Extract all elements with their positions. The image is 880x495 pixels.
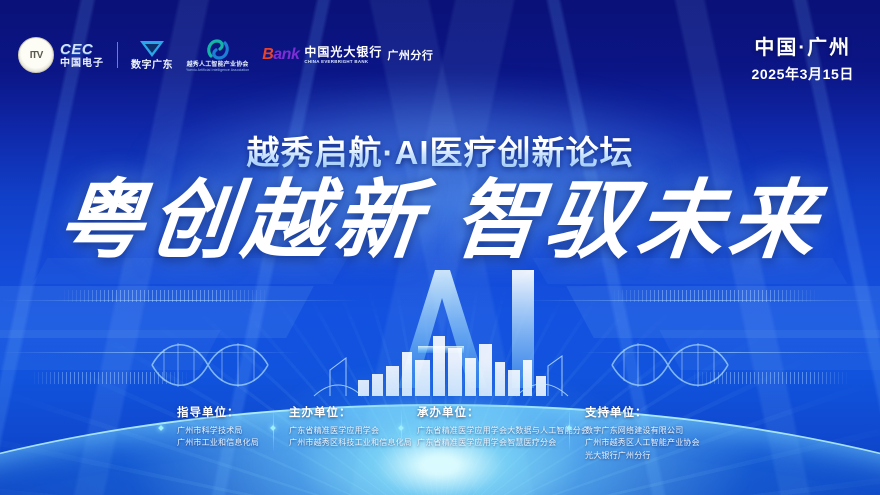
event-location-date: 中国·广州 2025年3月15日 xyxy=(751,38,854,81)
organizer-credits: 指导单位： 广州市科学技术局 广州市工业和信息化局 主办单位： 广东省精准医学应… xyxy=(0,404,880,466)
credit-block-organizer: 承办单位： 广东省精准医学应用学会大数据与人工智能分会 广东省精准医学应用学会智… xyxy=(401,404,569,450)
cec-logo: ITV CEC 中国电子 xyxy=(18,37,104,73)
diamond-node-icon xyxy=(158,425,164,431)
credit-org: 广州市越秀区人工智能产业协会 xyxy=(585,437,705,448)
credit-block-supporter: 支持单位： 数字广东网络建设有限公司 广州市越秀区人工智能产业协会 光大银行广州… xyxy=(569,404,719,462)
cec-seal-icon: ITV xyxy=(18,37,54,73)
bank-mark-ank: ank xyxy=(273,46,299,64)
forum-main-title: 粤创越新 智驭未来 xyxy=(0,176,880,266)
digital-guangdong-label: 数字广东 xyxy=(131,61,173,71)
credit-org: 广州市越秀区科技工业和信息化局 xyxy=(289,437,387,448)
event-backdrop-poster: ITV CEC 中国电子 数字广东 越秀人工智能产业协会 Yuexiu Arti… xyxy=(0,0,880,495)
sponsor-logo-bar: ITV CEC 中国电子 数字广东 越秀人工智能产业协会 Yuexiu Arti… xyxy=(18,33,433,77)
swirl-knot-icon xyxy=(205,38,231,60)
bank-name-cn: 中国光大银行 xyxy=(304,46,382,58)
logo-divider xyxy=(117,42,118,68)
forum-subtitle: 越秀启航·AI医疗创新论坛 xyxy=(0,126,880,174)
credit-org: 广东省精准医学应用学会 xyxy=(289,425,387,436)
everbright-bank-logo: B ank 中国光大银行 CHINA EVERBRIGHT BANK 广州分行 xyxy=(262,46,433,64)
credit-heading: 指导单位： xyxy=(177,404,259,420)
credit-org: 数字广东网络建设有限公司 xyxy=(585,425,705,436)
ai-association-label-cn: 越秀人工智能产业协会 xyxy=(187,62,249,68)
cec-logo-chinese: 中国电子 xyxy=(60,59,104,69)
bank-mark-b: B xyxy=(262,46,273,64)
credit-heading: 主办单位： xyxy=(289,404,387,420)
credit-heading: 承办单位： xyxy=(417,404,555,420)
credit-org: 广东省精准医学应用学会智慧医疗分会 xyxy=(417,437,555,448)
credit-org: 广州市科学技术局 xyxy=(177,425,259,436)
ai-industry-association-logo: 越秀人工智能产业协会 Yuexiu Artificial Intelligenc… xyxy=(186,38,249,72)
event-date: 2025年3月15日 xyxy=(751,67,854,81)
digital-guangdong-logo: 数字广东 xyxy=(131,39,173,71)
ai-association-label-en: Yuexiu Artificial Intelligence Associati… xyxy=(186,69,249,72)
credit-block-host: 主办单位： 广东省精准医学应用学会 广州市越秀区科技工业和信息化局 xyxy=(273,404,401,450)
credit-org: 光大银行广州分行 xyxy=(585,450,705,461)
credit-org: 广州市工业和信息化局 xyxy=(177,437,259,448)
bank-branch-label: 广州分行 xyxy=(387,47,433,63)
bank-name-en: CHINA EVERBRIGHT BANK xyxy=(304,60,382,64)
credit-block-guidance: 指导单位： 广州市科学技术局 广州市工业和信息化局 xyxy=(161,404,273,450)
cec-logo-latin: CEC xyxy=(60,42,104,57)
event-city: 中国·广州 xyxy=(751,38,854,58)
credit-heading: 支持单位： xyxy=(585,404,705,420)
credit-org: 广东省精准医学应用学会大数据与人工智能分会 xyxy=(417,425,555,436)
shield-chevron-icon xyxy=(139,39,165,58)
